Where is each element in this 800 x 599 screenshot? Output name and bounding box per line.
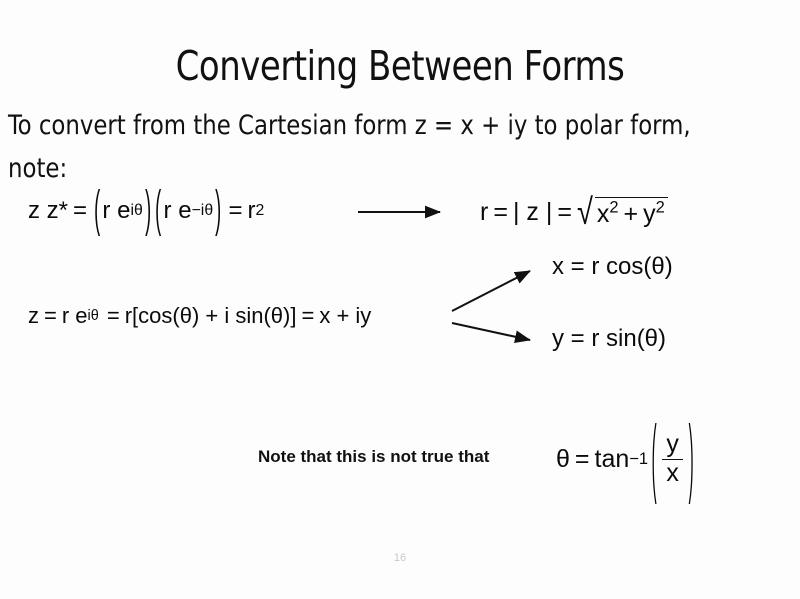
polar-equals-1: = [44,303,57,329]
radicand-y-exponent: 2 [656,199,665,217]
polar-bracket-form: r[cos(θ) + i sin(θ)] [125,303,297,329]
zz-equals-1: = [73,197,87,225]
zz-open-paren-2: ( [155,182,161,240]
polar-equals-3: = [301,303,314,329]
radicand-plus: + [624,200,639,228]
radical-icon: √ [577,196,593,229]
fraction-numerator: y [662,432,683,459]
lead-paragraph: To convert from the Cartesian form z = x… [8,104,751,190]
arrow-to-y-component [452,323,530,340]
fraction-denominator: x [662,459,683,487]
zz-equals-2: = [229,197,243,225]
theta-equals: = [575,445,590,474]
arrow-to-x-component [452,271,530,311]
polar-exp-base: r e [62,303,88,329]
polar-cartesian: x + iy [319,303,371,329]
polar-equals-2: = [107,303,120,329]
zz-close-paren-1: ) [145,182,151,240]
zz-lhs: z z* [28,197,68,225]
equation-modulus-identity: z z* = ( r eiθ )( r e−iθ ) = r2 [28,196,264,225]
zz-rhs-base: r [248,197,256,225]
radicand-y: y [643,200,656,228]
radicand-x-exponent: 2 [609,199,618,217]
equation-y-component: y = r sin(θ) [552,325,666,353]
page-title: Converting Between Forms [32,45,768,88]
r-lhs: r [480,198,488,227]
zz-factor2-base: r e [164,197,192,225]
equation-x-component: x = r cos(θ) [552,253,673,281]
r-equals-1: = [493,198,508,227]
theta-close-paren: ) [689,408,694,510]
note-caveat-label: Note that this is not true that [258,447,489,467]
square-root-group: √ x2+y2 [575,196,668,229]
zz-close-paren-2: ) [215,182,221,240]
theta-function: tan [595,445,630,474]
fraction-y-over-x: y x [662,432,683,486]
slide-canvas: Converting Between Forms To convert from… [0,0,800,599]
zz-factor1-base: r e [102,197,130,225]
theta-lhs: θ [556,445,570,474]
equation-polar-form: z = r eiθ = r[cos(θ) + i sin(θ)] = x + i… [28,303,371,329]
r-absolute-value: | z | [513,198,552,227]
radicand-x: x [597,200,610,228]
equation-modulus-result: r = | z | = √ x2+y2 [480,196,668,229]
r-equals-2: = [557,198,572,227]
polar-lhs: z [28,303,39,329]
radicand: x2+y2 [595,197,668,229]
theta-open-paren: ( [652,408,657,510]
page-number: 16 [0,552,800,564]
equation-argument: θ = tan−1 ( y x ) [556,432,697,486]
zz-open-paren-1: ( [94,182,100,240]
